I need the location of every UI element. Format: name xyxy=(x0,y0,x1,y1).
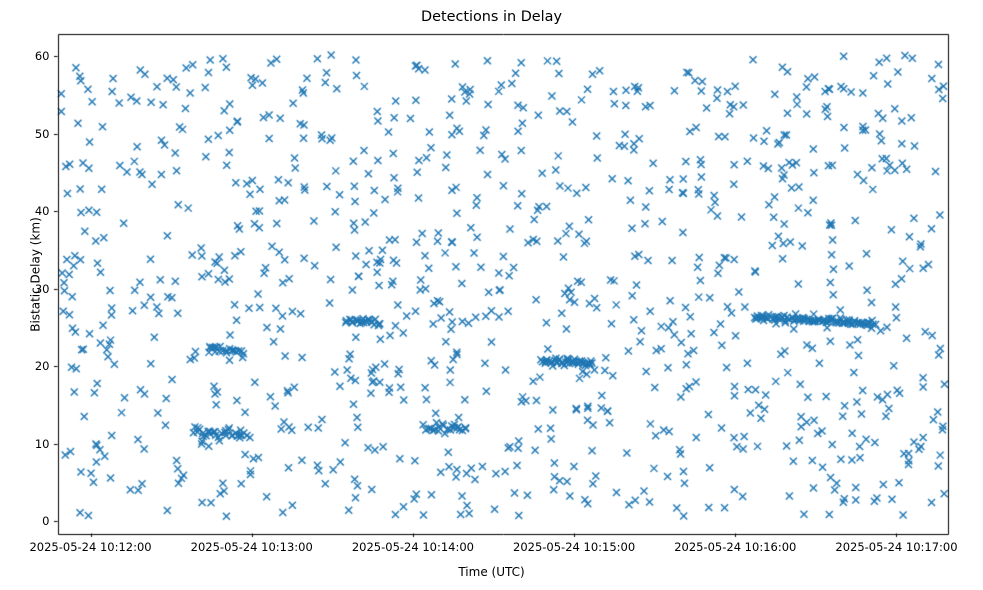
x-tick-label: 2025-05-24 10:17:00 xyxy=(835,540,957,554)
chart-title: Detections in Delay xyxy=(0,8,983,26)
y-tick-label: 60 xyxy=(0,49,50,63)
x-axis-label: Time (UTC) xyxy=(0,565,983,580)
y-tick-label: 10 xyxy=(0,437,50,451)
x-tick-label: 2025-05-24 10:16:00 xyxy=(674,540,796,554)
x-tick-label: 2025-05-24 10:12:00 xyxy=(29,540,151,554)
x-tick-label: 2025-05-24 10:14:00 xyxy=(352,540,474,554)
scatter-plot-canvas xyxy=(0,0,983,590)
y-tick-label: 50 xyxy=(0,127,50,141)
x-tick-label: 2025-05-24 10:13:00 xyxy=(191,540,313,554)
y-tick-label: 20 xyxy=(0,359,50,373)
x-tick-label: 2025-05-24 10:15:00 xyxy=(513,540,635,554)
y-tick-label: 30 xyxy=(0,282,50,296)
y-tick-label: 40 xyxy=(0,204,50,218)
y-tick-label: 0 xyxy=(0,514,50,528)
matplotlib-figure: Detections in Delay Time (UTC) Bistatic … xyxy=(0,0,983,590)
